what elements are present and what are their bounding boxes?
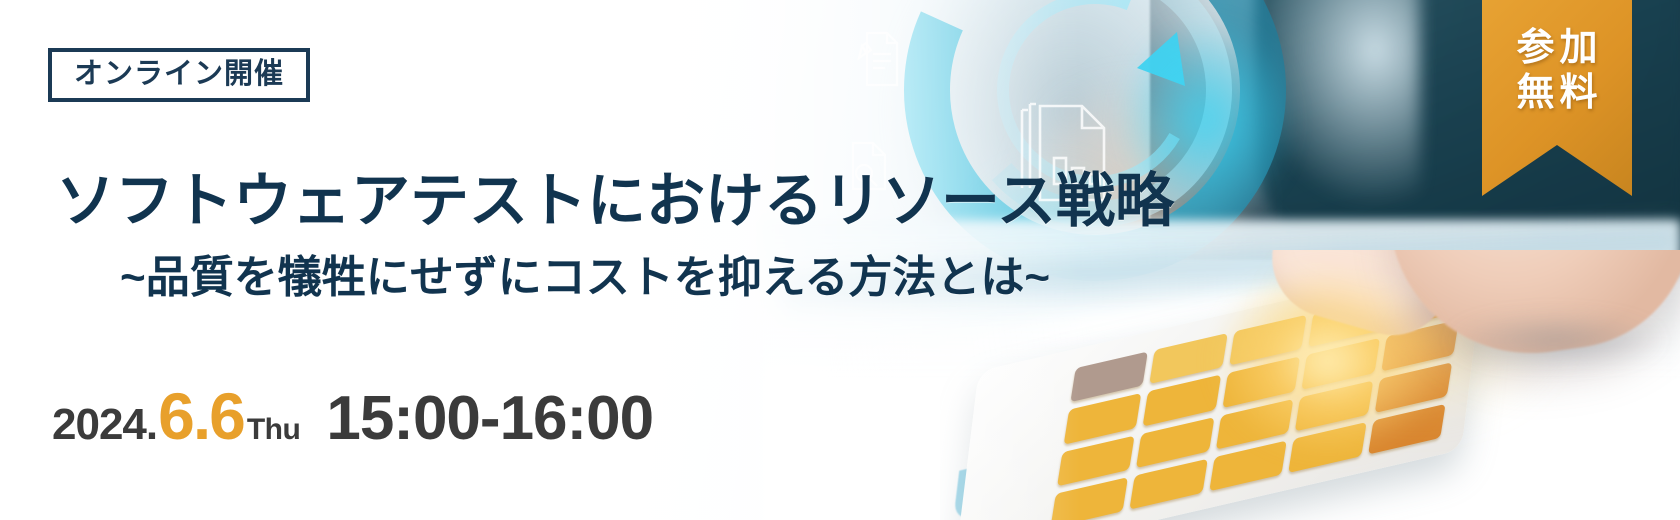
banner-content: オンライン開催 ソフトウェアテストにおけるリソース戦略 ~品質を犠牲にせずにコス… — [0, 0, 1680, 520]
event-datetime: 2024. 6.6 Thu 15:00-16:00 — [52, 378, 653, 454]
ribbon-line-2: 無料 — [1511, 71, 1602, 116]
event-day-of-week: Thu — [247, 413, 300, 447]
ribbon-line-1: 参加 — [1511, 26, 1602, 71]
free-participation-ribbon: 参加 無料 — [1482, 0, 1632, 196]
online-event-badge: オンライン開催 — [48, 48, 310, 102]
banner-sub-title: ~品質を犠牲にせずにコストを抑える方法とは~ — [120, 256, 1050, 300]
event-month-day: 6.6 — [158, 378, 244, 454]
banner-main-title: ソフトウェアテストにおけるリソース戦略 — [56, 172, 1174, 231]
event-time-range: 15:00-16:00 — [326, 383, 653, 454]
online-event-badge-label: オンライン開催 — [74, 59, 284, 89]
event-year: 2024. — [52, 400, 157, 450]
webinar-banner: オンライン開催 ソフトウェアテストにおけるリソース戦略 ~品質を犠牲にせずにコス… — [0, 0, 1680, 520]
